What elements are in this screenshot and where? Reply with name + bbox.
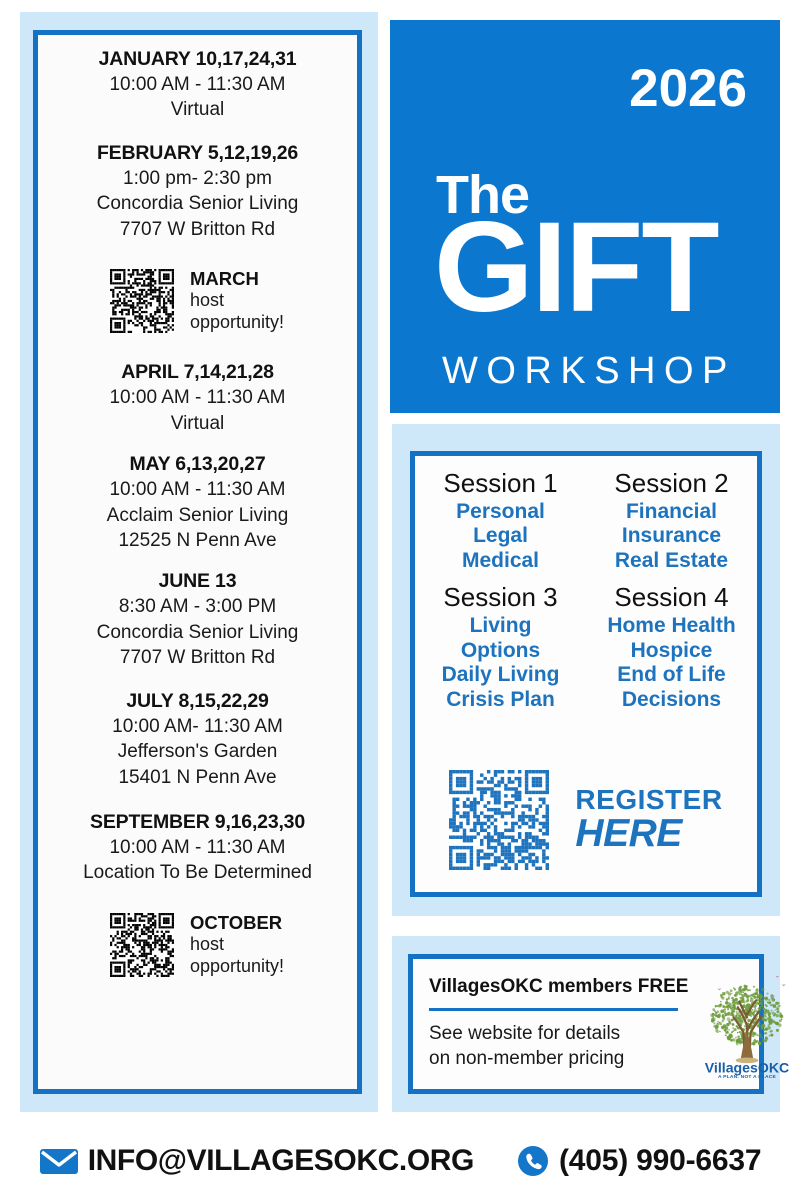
- march-host-qr-code[interactable]: [110, 269, 174, 333]
- october-host-qr-code[interactable]: [110, 913, 174, 977]
- logo-wordmark: VillagesOKC: [705, 1059, 789, 1075]
- session-topic: Personal: [419, 500, 582, 525]
- schedule-event: JUNE 138:30 AM - 3:00 PMConcordia Senior…: [52, 569, 343, 670]
- host-line-2: opportunity!: [190, 956, 284, 978]
- session-topic: Legal: [419, 524, 582, 549]
- sessions-grid: Session 1PersonalLegalMedicalSession 2Fi…: [415, 468, 757, 713]
- sessions-panel: Session 1PersonalLegalMedicalSession 2Fi…: [392, 424, 780, 916]
- session-heading: Session 3: [419, 582, 582, 614]
- event-detail-line: Virtual: [52, 411, 343, 436]
- session-cell-4: Session 4Home HealthHospiceEnd of LifeDe…: [586, 582, 757, 713]
- session-cell-1: Session 1PersonalLegalMedical: [415, 468, 586, 574]
- host-opportunity-march[interactable]: MARCHhostopportunity!: [52, 268, 343, 334]
- session-topic: Options: [419, 639, 582, 664]
- host-month: OCTOBER: [190, 912, 284, 934]
- register-line-2: HERE: [575, 814, 722, 855]
- session-topic: Medical: [419, 549, 582, 574]
- schedule-event: MAY 6,13,20,2710:00 AM - 11:30 AMAcclaim…: [52, 452, 343, 553]
- event-title: JULY 8,15,22,29: [52, 689, 343, 714]
- session-topic: Living: [419, 614, 582, 639]
- event-detail-line: 7707 W Britton Rd: [52, 217, 343, 242]
- schedule-event: APRIL 7,14,21,2810:00 AM - 11:30 AMVirtu…: [52, 360, 343, 436]
- event-detail-line: 15401 N Penn Ave: [52, 765, 343, 790]
- session-topic: Hospice: [590, 639, 753, 664]
- contact-footer: INFO@VILLAGESOKC.ORG (405) 990-6637: [0, 1122, 800, 1200]
- schedule-event: JANUARY 10,17,24,3110:00 AM - 11:30 AMVi…: [52, 47, 343, 123]
- event-detail-line: 10:00 AM - 11:30 AM: [52, 477, 343, 502]
- event-detail-line: 10:00 AM - 11:30 AM: [52, 385, 343, 410]
- email-text: INFO@VILLAGESOKC.ORG: [88, 1144, 474, 1178]
- pricing-detail-line-2: on non-member pricing: [429, 1047, 688, 1072]
- email-contact[interactable]: INFO@VILLAGESOKC.ORG: [39, 1144, 474, 1178]
- host-opportunity-october[interactable]: OCTOBERhostopportunity!: [52, 912, 343, 978]
- schedule-event: SEPTEMBER 9,16,23,3010:00 AM - 11:30 AML…: [52, 810, 343, 886]
- schedule-event: FEBRUARY 5,12,19,261:00 pm- 2:30 pmConco…: [52, 141, 343, 242]
- event-title: JUNE 13: [52, 569, 343, 594]
- register-row[interactable]: REGISTER HERE: [415, 770, 757, 870]
- host-line-1: host: [190, 934, 284, 956]
- event-detail-line: Jefferson's Garden: [52, 739, 343, 764]
- hero-workshop-subtitle: WORKSHOP: [442, 352, 736, 390]
- pricing-panel: VillagesOKC members FREE See website for…: [392, 936, 780, 1112]
- pricing-detail-line-1: See website for details: [429, 1022, 688, 1047]
- schedule-panel: JANUARY 10,17,24,3110:00 AM - 11:30 AMVi…: [20, 12, 378, 1112]
- pricing-divider: [429, 1008, 678, 1011]
- event-detail-line: 7707 W Britton Rd: [52, 645, 343, 670]
- session-cell-3: Session 3LivingOptionsDaily LivingCrisis…: [415, 582, 586, 713]
- session-heading: Session 1: [419, 468, 582, 500]
- logo-tagline: A PLAN, NOT A PLACE: [718, 1074, 777, 1078]
- event-detail-line: 1:00 pm- 2:30 pm: [52, 166, 343, 191]
- envelope-icon: [39, 1146, 79, 1176]
- register-label-group: REGISTER HERE: [575, 785, 722, 855]
- phone-text: (405) 990-6637: [559, 1144, 761, 1178]
- tree-icon: VillagesOKC A PLAN, NOT A PLACE: [694, 965, 800, 1078]
- hero-year: 2026: [629, 62, 747, 115]
- hero-gift-title: GIFT: [434, 204, 718, 332]
- phone-contact[interactable]: (405) 990-6637: [516, 1144, 761, 1178]
- host-text-group: MARCHhostopportunity!: [190, 268, 284, 334]
- phone-circle-icon: [516, 1144, 550, 1178]
- villagesokc-logo: VillagesOKC A PLAN, NOT A PLACE: [694, 965, 800, 1083]
- event-detail-line: 12525 N Penn Ave: [52, 528, 343, 553]
- pricing-card: VillagesOKC members FREE See website for…: [408, 954, 764, 1094]
- event-detail-line: 10:00 AM - 11:30 AM: [52, 72, 343, 97]
- host-line-1: host: [190, 290, 284, 312]
- session-topic: Home Health: [590, 614, 753, 639]
- event-detail-line: Location To Be Determined: [52, 860, 343, 885]
- session-topic: End of Life: [590, 663, 753, 688]
- event-title: MAY 6,13,20,27: [52, 452, 343, 477]
- event-title: FEBRUARY 5,12,19,26: [52, 141, 343, 166]
- register-qr-code[interactable]: [449, 770, 549, 870]
- hero-banner: 2026 The GIFT WORKSHOP: [390, 20, 780, 413]
- session-topic: Decisions: [590, 688, 753, 713]
- event-detail-line: 8:30 AM - 3:00 PM: [52, 594, 343, 619]
- host-line-2: opportunity!: [190, 312, 284, 334]
- event-detail-line: Virtual: [52, 97, 343, 122]
- event-title: SEPTEMBER 9,16,23,30: [52, 810, 343, 835]
- session-cell-2: Session 2FinancialInsuranceReal Estate: [586, 468, 757, 574]
- schedule-event: JULY 8,15,22,2910:00 AM- 11:30 AMJeffers…: [52, 689, 343, 790]
- session-topic: Insurance: [590, 524, 753, 549]
- register-line-1: REGISTER: [575, 785, 722, 814]
- schedule-list: JANUARY 10,17,24,3110:00 AM - 11:30 AMVi…: [38, 35, 357, 1089]
- event-detail-line: 10:00 AM - 11:30 AM: [52, 835, 343, 860]
- pricing-text-group: VillagesOKC members FREE See website for…: [429, 976, 688, 1071]
- event-detail-line: Concordia Senior Living: [52, 620, 343, 645]
- session-topic: Financial: [590, 500, 753, 525]
- session-topic: Daily Living: [419, 663, 582, 688]
- event-title: APRIL 7,14,21,28: [52, 360, 343, 385]
- register-qr-code[interactable]: [449, 770, 549, 870]
- session-heading: Session 2: [590, 468, 753, 500]
- host-month: MARCH: [190, 268, 284, 290]
- pricing-headline: VillagesOKC members FREE: [429, 976, 688, 998]
- session-heading: Session 4: [590, 582, 753, 614]
- sessions-card: Session 1PersonalLegalMedicalSession 2Fi…: [410, 451, 762, 897]
- event-detail-line: Concordia Senior Living: [52, 191, 343, 216]
- host-text-group: OCTOBERhostopportunity!: [190, 912, 284, 978]
- session-topic: Crisis Plan: [419, 688, 582, 713]
- schedule-card: JANUARY 10,17,24,3110:00 AM - 11:30 AMVi…: [33, 30, 362, 1094]
- event-detail-line: Acclaim Senior Living: [52, 503, 343, 528]
- session-topic: Real Estate: [590, 549, 753, 574]
- flyer-page: JANUARY 10,17,24,3110:00 AM - 11:30 AMVi…: [0, 0, 800, 1200]
- event-title: JANUARY 10,17,24,31: [52, 47, 343, 72]
- event-detail-line: 10:00 AM- 11:30 AM: [52, 714, 343, 739]
